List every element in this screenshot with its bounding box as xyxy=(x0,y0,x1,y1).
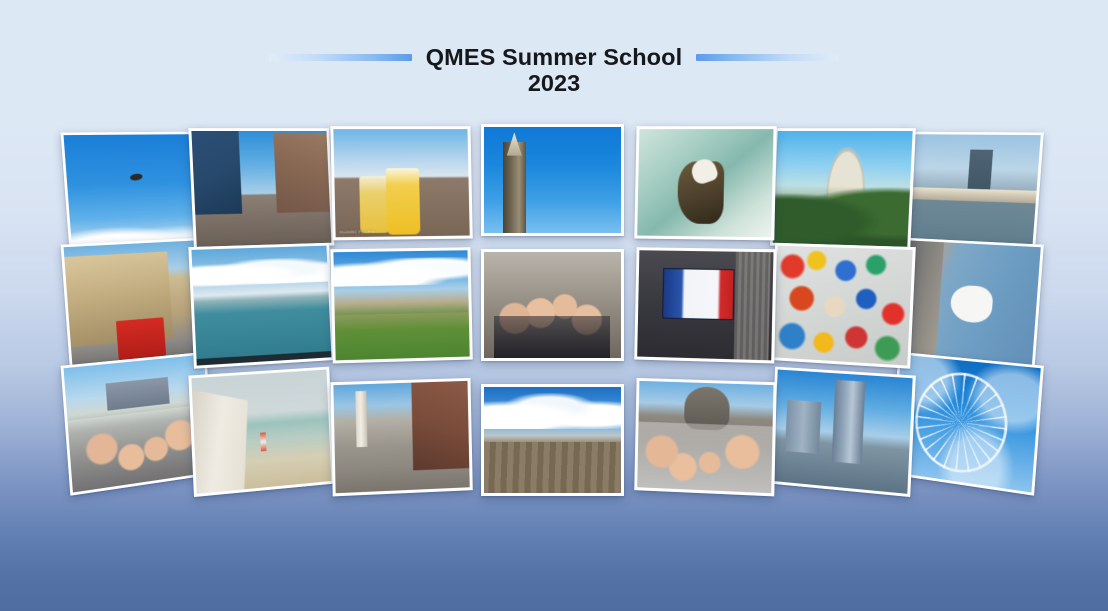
gallery-photo-15 xyxy=(61,352,215,496)
photo-image xyxy=(637,381,773,493)
page-title-year: 2023 xyxy=(0,70,1108,97)
gallery-photo-3: HUAWEI P30 Pro xyxy=(330,126,472,240)
gallery-photo-18: HUAWEI P30 Pro xyxy=(481,384,624,496)
presentation-slide: QMES Summer School 2023 HUAWEI P30 ProHU… xyxy=(0,0,1108,611)
page-title: QMES Summer School xyxy=(426,44,682,71)
photo-image xyxy=(484,127,621,233)
photo-image xyxy=(773,370,913,494)
title-rule-right-icon xyxy=(696,54,839,61)
gallery-photo-12 xyxy=(634,247,776,363)
photo-image xyxy=(191,131,331,247)
gallery-photo-21 xyxy=(890,352,1044,496)
photo-image xyxy=(333,381,469,493)
photo-image: HUAWEI P30 Pro xyxy=(333,129,469,237)
gallery-photo-20 xyxy=(770,367,916,497)
photo-image xyxy=(64,134,213,260)
photo-watermark: HUAWEI P30 Pro xyxy=(339,229,374,234)
photo-image xyxy=(773,246,913,366)
gallery-photo-16 xyxy=(188,367,334,497)
title-rule-left-icon xyxy=(269,54,412,61)
photo-image: HUAWEI P30 Pro xyxy=(191,246,331,366)
gallery-photo-8: HUAWEI P30 Pro xyxy=(61,237,215,375)
photo-watermark: HUAWEI P30 Pro xyxy=(200,356,234,363)
photo-image xyxy=(64,354,213,492)
photo-image xyxy=(892,354,1040,492)
photo-image xyxy=(773,131,913,247)
gallery-photo-6 xyxy=(770,128,916,250)
photo-image xyxy=(892,240,1040,372)
gallery-photo-11 xyxy=(481,249,624,361)
photo-watermark: HUAWEI P30 Pro xyxy=(76,362,108,370)
photo-image xyxy=(191,370,331,494)
photo-image xyxy=(637,129,773,237)
gallery-photo-19 xyxy=(634,378,776,496)
gallery-photo-17 xyxy=(330,378,472,496)
photo-image: HUAWEI P30 Pro xyxy=(64,240,213,372)
gallery-photo-4 xyxy=(481,124,624,236)
photo-image: HUAWEI P30 Pro xyxy=(484,387,621,493)
gallery-photo-10 xyxy=(330,247,472,363)
photo-watermark: HUAWEI P30 Pro xyxy=(488,485,524,490)
gallery-photo-9: HUAWEI P30 Pro xyxy=(188,243,334,369)
title-row: QMES Summer School xyxy=(0,44,1108,71)
slide-title-block: QMES Summer School 2023 xyxy=(0,44,1108,98)
photo-image xyxy=(637,250,773,360)
photo-image xyxy=(333,250,469,360)
gallery-photo-13 xyxy=(770,243,916,369)
gallery-photo-5 xyxy=(634,126,776,240)
photo-image xyxy=(484,252,621,358)
gallery-photo-14 xyxy=(890,237,1044,375)
